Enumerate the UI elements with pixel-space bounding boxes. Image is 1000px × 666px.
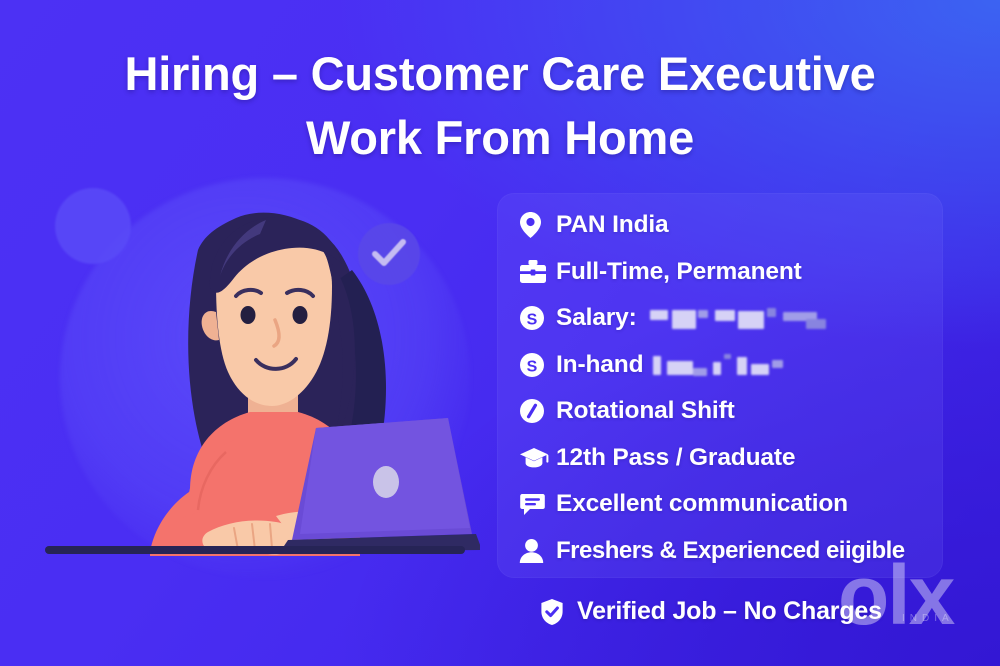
list-item: S Salary: (519, 295, 939, 342)
briefcase-icon (519, 259, 553, 285)
list-item: S In-hand (519, 342, 939, 389)
list-item-label: Full-Time, Permanent (556, 258, 802, 286)
dollar-coin-icon: S (519, 352, 553, 378)
graduation-cap-icon (519, 446, 553, 470)
svg-text:S: S (527, 358, 538, 375)
salary-redacted-value (650, 308, 826, 329)
job-details-card: PAN India Full-Time, Permanent S Salary: (497, 193, 943, 578)
olx-region-text: INDIA (902, 613, 954, 624)
list-item-label: 12th Pass / Graduate (556, 444, 795, 472)
verified-job-badge: Verified Job – No Charges (540, 597, 882, 626)
woman-at-laptop-illustration (30, 160, 480, 560)
job-details-list: PAN India Full-Time, Permanent S Salary: (519, 202, 939, 574)
list-item: Rotational Shift (519, 388, 939, 435)
list-item-label: Excellent communication (556, 490, 848, 518)
list-item: Excellent communication (519, 481, 939, 528)
list-item: Freshers & Experienced eiigible (519, 528, 939, 575)
list-item-label: Rotational Shift (556, 397, 735, 425)
location-pin-icon (519, 211, 553, 239)
rotational-shift-icon (519, 398, 553, 424)
svg-text:S: S (527, 312, 538, 329)
job-poster: Hiring – Customer Care Executive Work Fr… (0, 0, 1000, 666)
person-icon (519, 538, 553, 564)
list-item-label: In-hand (556, 351, 643, 379)
check-circle-icon (358, 223, 420, 285)
shield-check-icon (540, 598, 564, 626)
verified-job-label: Verified Job – No Charges (577, 597, 882, 626)
in-hand-redacted-value (653, 354, 783, 375)
list-item: 12th Pass / Graduate (519, 435, 939, 482)
headline-line-1: Hiring – Customer Care Executive (124, 47, 875, 100)
headline-line-2: Work From Home (0, 106, 1000, 170)
list-item: Full-Time, Permanent (519, 249, 939, 296)
list-item-label: Freshers & Experienced eiigible (556, 537, 905, 565)
dollar-coin-icon: S (519, 305, 553, 331)
list-item-label: Salary: (556, 304, 637, 332)
chat-bubble-icon (519, 492, 553, 517)
page-title: Hiring – Customer Care Executive Work Fr… (0, 42, 1000, 170)
list-item: PAN India (519, 202, 939, 249)
list-item-label: PAN India (556, 211, 669, 239)
